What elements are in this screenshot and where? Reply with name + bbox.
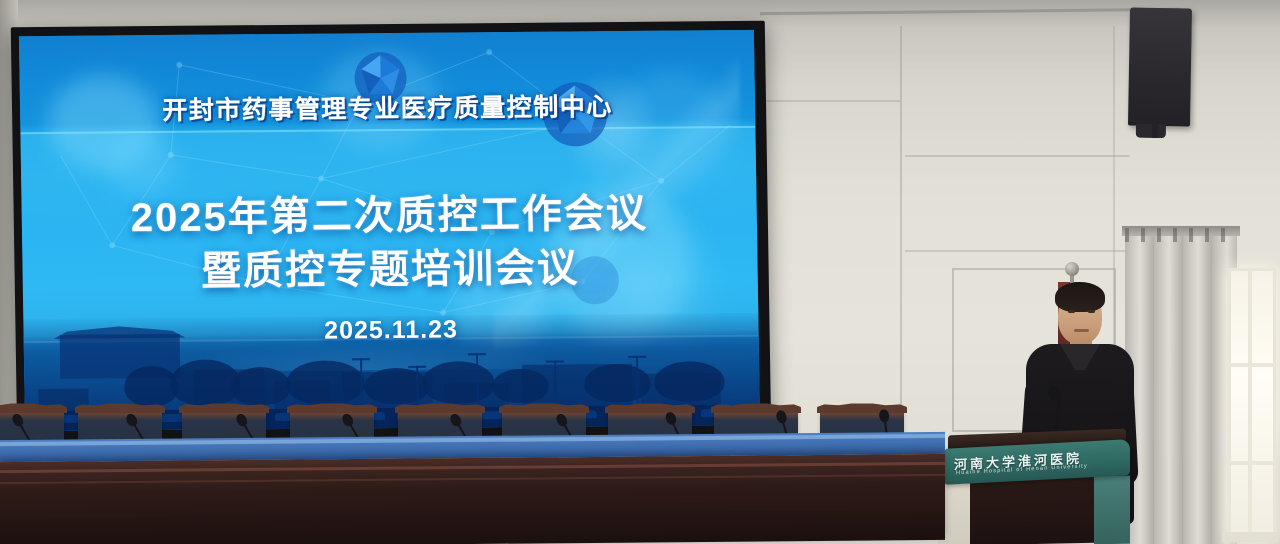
window-mullion-vertical (1248, 271, 1252, 539)
wall-panel-line-1 (905, 155, 1130, 157)
conference-table (0, 454, 945, 544)
led-display-screen: 开封市药事管理专业医疗质量控制中心 2025年第二次质控工作会议 暨质控专题培训… (11, 21, 772, 443)
window-sill (1222, 532, 1278, 542)
podium-body (970, 475, 1100, 544)
curtain-rings (1125, 228, 1237, 242)
table-edge-line-1 (0, 462, 945, 473)
window-mullion-h2 (1231, 461, 1273, 465)
screen-content: 开封市药事管理专业医疗质量控制中心 2025年第二次质控工作会议 暨质控专题培训… (19, 30, 760, 431)
conference-room-photo: 开封市药事管理专业医疗质量控制中心 2025年第二次质控工作会议 暨质控专题培训… (0, 0, 1280, 544)
presenter-eye-right (1088, 310, 1095, 313)
window-curtain (1125, 228, 1237, 544)
podium-side-panel (1094, 476, 1130, 544)
presenter-mouth (1074, 329, 1089, 332)
screen-date-text: 2025.11.23 (23, 313, 758, 348)
table-edge-line-2 (0, 474, 945, 484)
screen-text-layer: 开封市药事管理专业医疗质量控制中心 2025年第二次质控工作会议 暨质控专题培训… (19, 30, 760, 431)
presenter-hair (1055, 282, 1105, 312)
screen-header-text: 开封市药事管理专业医疗质量控制中心 (20, 86, 756, 128)
podium-microphone-head (1048, 386, 1059, 400)
podium: 河南大学淮河医院 Huaihe Hospital of Henan Univer… (944, 432, 1130, 544)
wall-speaker-icon (1128, 7, 1192, 126)
side-window (1228, 268, 1276, 542)
presenter-eye-left (1068, 310, 1075, 313)
wall-panel-line-2 (905, 250, 1130, 252)
screen-title-line2: 暨质控专题培训会议 (22, 234, 758, 298)
wall-panel-line-3 (760, 100, 900, 102)
speaker-bracket (1152, 120, 1158, 138)
window-mullion-h1 (1231, 363, 1273, 367)
